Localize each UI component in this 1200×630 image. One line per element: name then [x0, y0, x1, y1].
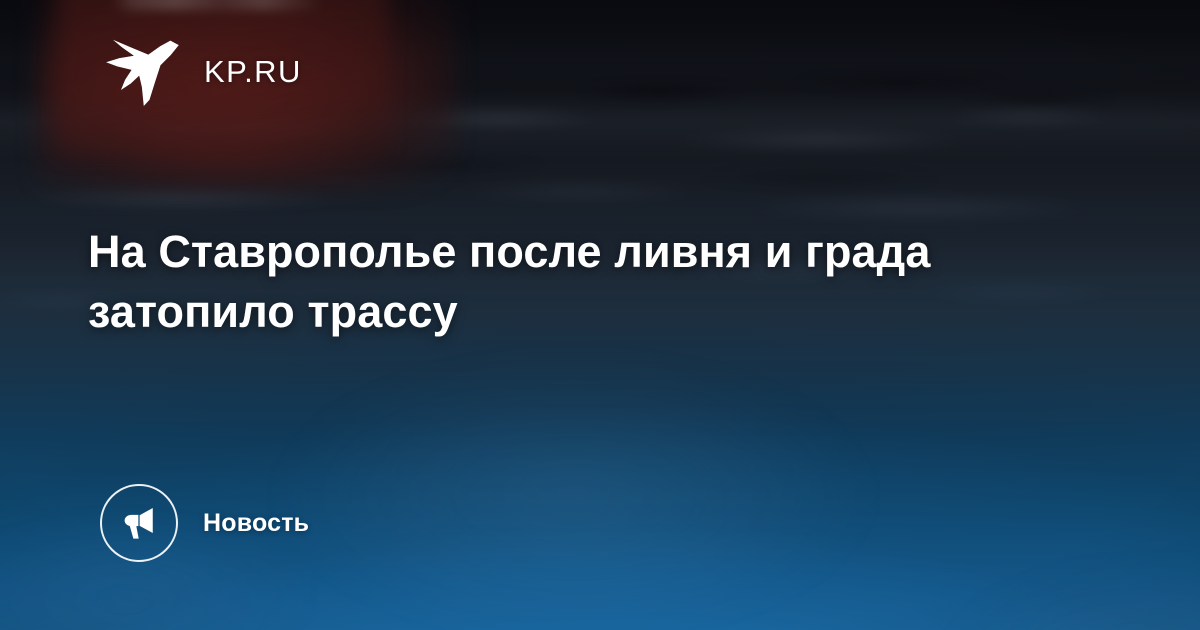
badge-circle	[100, 484, 178, 562]
swallow-bird-icon	[104, 36, 182, 106]
brand-wordmark: KP.RU	[204, 56, 302, 87]
megaphone-icon	[119, 503, 159, 543]
brand-logo[interactable]: KP.RU	[104, 36, 302, 106]
badge-label: Новость	[203, 509, 309, 538]
social-share-card: KP.RU На Ставрополье после ливня и града…	[0, 0, 1200, 630]
content-type-badge[interactable]: Новость	[100, 484, 309, 562]
headline-title: На Ставрополье после ливня и града затоп…	[88, 222, 1088, 342]
